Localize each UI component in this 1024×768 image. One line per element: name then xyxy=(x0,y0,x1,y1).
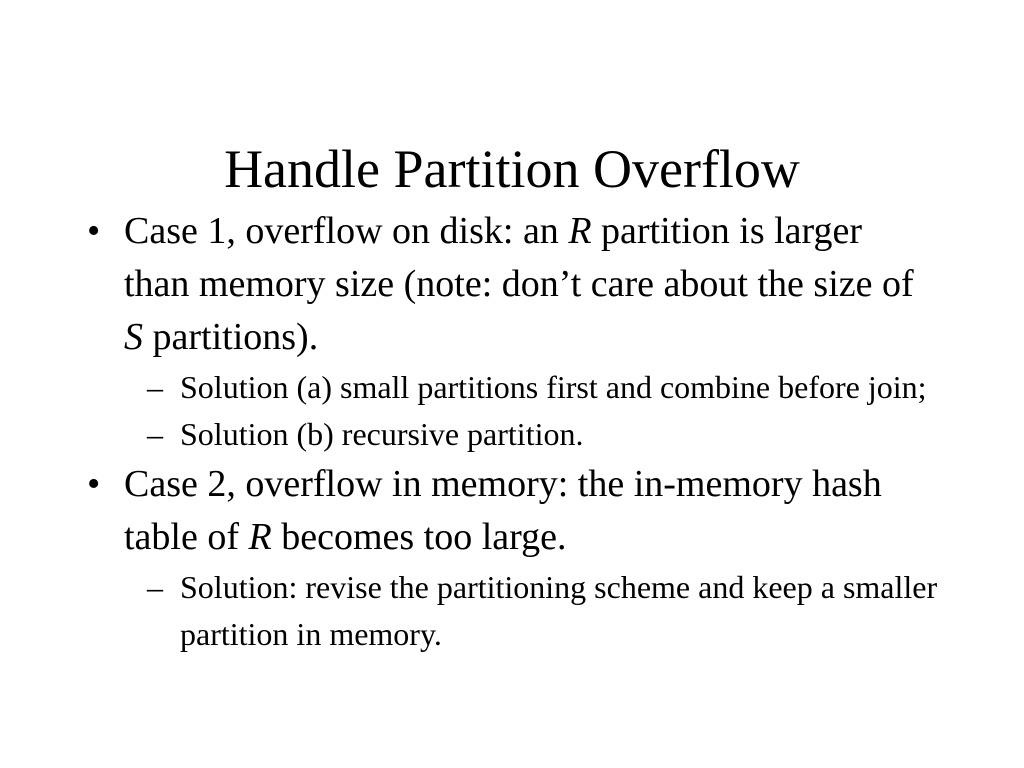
bullet-marker-icon: • xyxy=(87,458,100,511)
page-title: Handle Partition Overflow xyxy=(0,139,1024,199)
sub-bullet-text: Solution (a) small partitions first and … xyxy=(180,364,954,411)
italic-variable: S xyxy=(124,316,143,358)
list-item: – Solution (a) small partitions first an… xyxy=(147,364,954,411)
bullet-list-level2: – Solution: revise the partitioning sche… xyxy=(124,564,954,658)
bullet-text: Case 2, overflow in memory: the in-memor… xyxy=(124,458,914,564)
list-item: • Case 2, overflow in memory: the in-mem… xyxy=(84,458,954,658)
italic-variable: R xyxy=(568,210,591,252)
slide-body: • Case 1, overflow on disk: an R partiti… xyxy=(84,205,954,658)
bullet-list-level2: – Solution (a) small partitions first an… xyxy=(124,364,954,458)
list-item: – Solution: revise the partitioning sche… xyxy=(147,564,954,658)
slide: Handle Partition Overflow • Case 1, over… xyxy=(0,0,1024,768)
bullet-text: Case 1, overflow on disk: an R partition… xyxy=(124,205,914,364)
bullet-marker-icon: • xyxy=(87,205,100,258)
list-item: – Solution (b) recursive partition. xyxy=(147,411,954,458)
sub-bullet-text: Solution: revise the partitioning scheme… xyxy=(180,564,954,658)
bullet-list-level1: • Case 1, overflow on disk: an R partiti… xyxy=(84,205,954,658)
dash-marker-icon: – xyxy=(147,564,163,611)
list-item: • Case 1, overflow on disk: an R partiti… xyxy=(84,205,954,458)
dash-marker-icon: – xyxy=(147,364,163,411)
dash-marker-icon: – xyxy=(147,411,163,458)
sub-bullet-text: Solution (b) recursive partition. xyxy=(180,411,954,458)
italic-variable: R xyxy=(249,516,272,558)
